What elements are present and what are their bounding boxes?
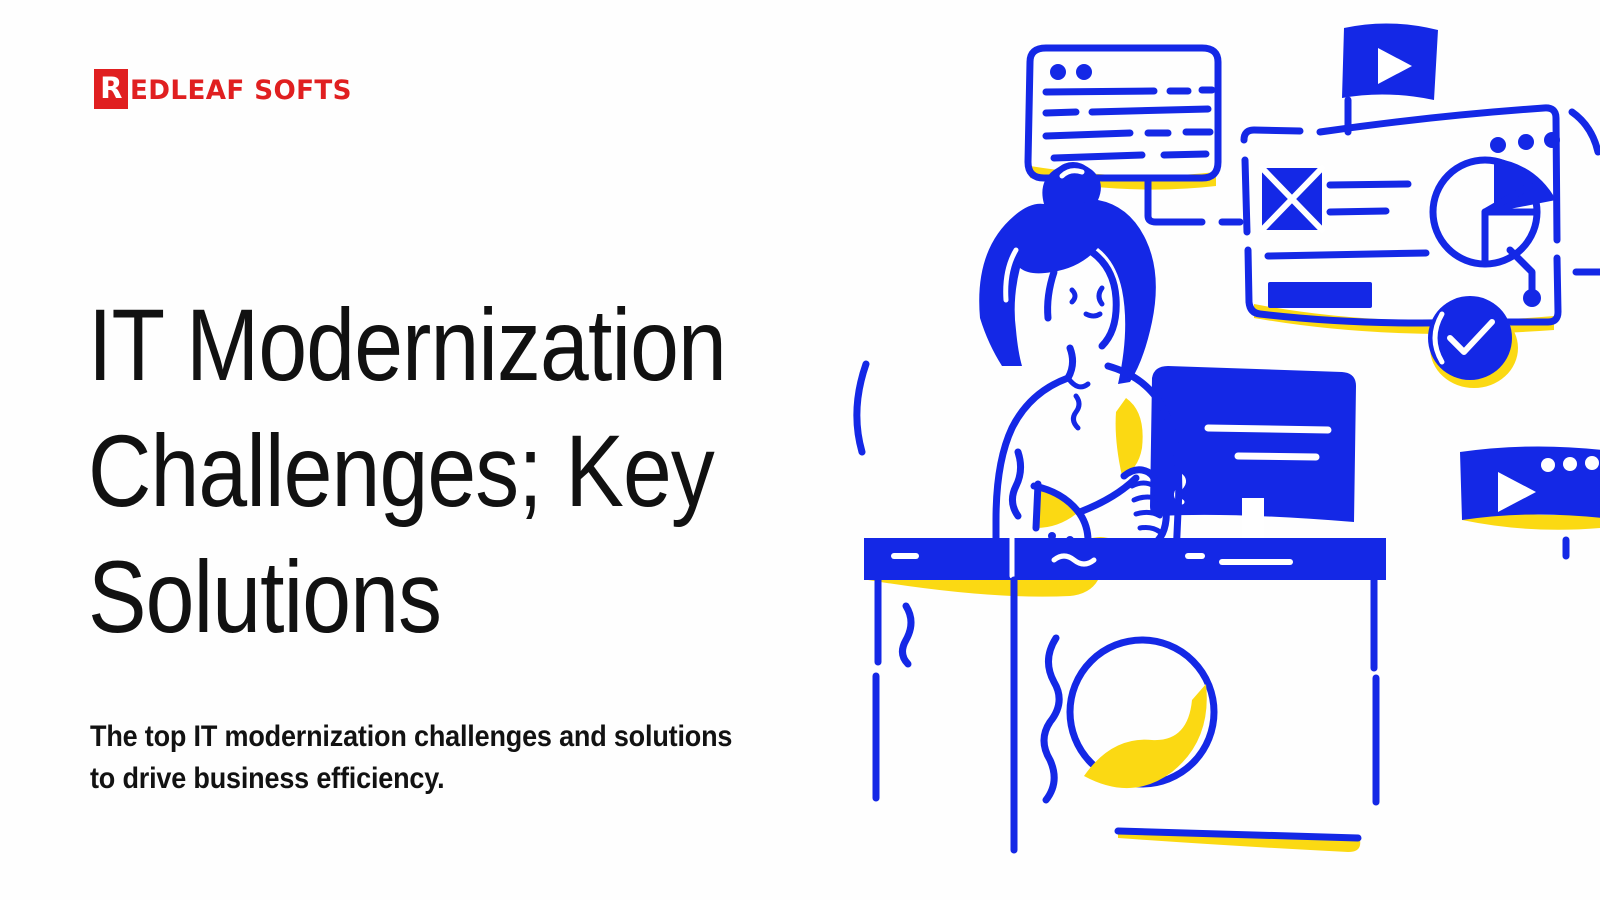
floor-line [1118, 830, 1360, 852]
logo-mark-letter: R [100, 74, 122, 103]
yin-yang-circle [1070, 640, 1214, 788]
logo-mark-icon: R [94, 69, 128, 109]
video-player-card [1460, 446, 1600, 529]
pie-chart-widget [1433, 158, 1556, 307]
brand-logo[interactable]: R EDLEAF SOFTS [94, 68, 359, 110]
code-window-card [1028, 48, 1218, 178]
page-title: IT Modernization Challenges; Key Solutio… [88, 282, 828, 660]
brand-name: EDLEAF SOFTS [130, 77, 352, 104]
slide-canvas: R EDLEAF SOFTS IT Modernization Challeng… [0, 0, 1600, 900]
dashboard-panel-card [1244, 108, 1600, 323]
woman-figure [857, 162, 1179, 562]
image-placeholder-tile [1262, 168, 1322, 230]
hero-illustration: .bl { stroke:#1428e6; fill:none; stroke-… [830, 0, 1600, 900]
check-badge-circle [1428, 296, 1518, 388]
desk-surface [864, 538, 1386, 850]
cable-squiggles [902, 606, 1059, 800]
page-subtitle: The top IT modernization challenges and … [90, 716, 900, 800]
